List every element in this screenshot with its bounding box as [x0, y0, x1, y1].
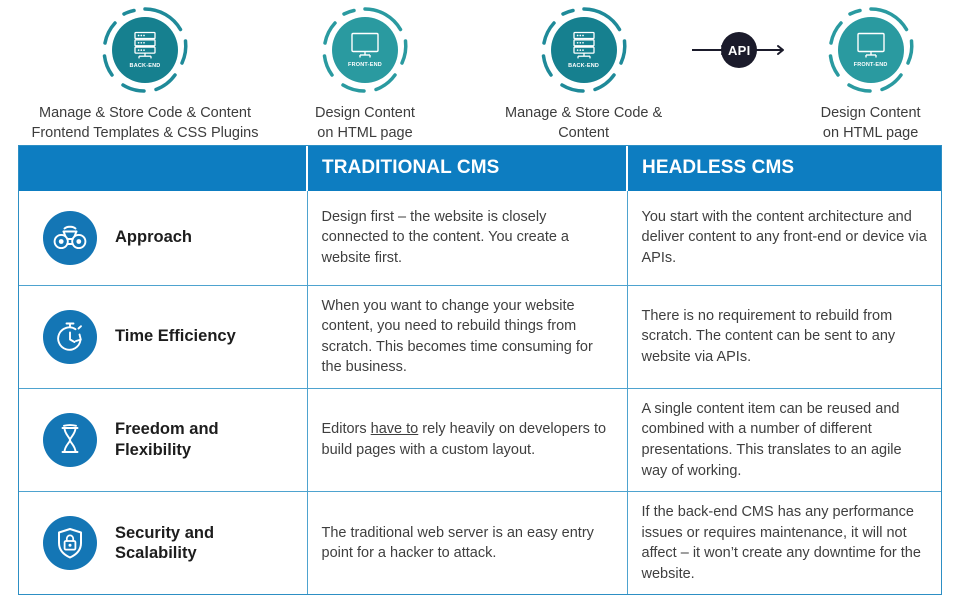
row-label-approach: Approach — [115, 227, 192, 248]
binoculars-icon — [43, 211, 97, 265]
cell-text: When you want to change your website con… — [322, 296, 613, 378]
cell-text: Design first – the website is closely co… — [322, 207, 613, 269]
table-header-traditional: TRADITIONAL CMS — [307, 146, 627, 191]
cell-headless-time-efficiency: There is no requirement to rebuild from … — [627, 285, 941, 388]
cell-text: If the back-end CMS has any performance … — [642, 502, 928, 584]
monitor-icon — [855, 31, 887, 61]
server-rack-icon — [569, 30, 599, 62]
table-row: Time Efficiency When you want to change … — [19, 285, 941, 388]
backend-badge-label: BACK-END — [568, 64, 599, 70]
backend-badge: BACK-END — [101, 6, 189, 94]
traditional-backend-node: BACK-END Manage & Store Code & Content F… — [20, 0, 270, 143]
traditional-frontend-node: FRONT-END Design Content on HTML page — [270, 0, 460, 143]
cell-text-underlined: have to — [371, 421, 419, 437]
cell-traditional-freedom-flexibility: Editors have to rely heavily on develope… — [307, 388, 627, 491]
cell-text: A single content item can be reused and … — [642, 399, 928, 481]
table-header-headless: HEADLESS CMS — [627, 146, 941, 191]
table-header-blank — [19, 146, 307, 191]
frontend-badge-core: FRONT-END — [838, 17, 904, 83]
row-label-security-scalability: Security and Scalability — [115, 523, 214, 564]
api-badge: API — [721, 32, 757, 68]
traditional-backend-caption: Manage & Store Code & Content Frontend T… — [31, 104, 258, 143]
frontend-badge-core: FRONT-END — [332, 17, 398, 83]
cell-text: You start with the content architecture … — [642, 207, 928, 269]
frontend-badge: FRONT-END — [827, 6, 915, 94]
traditional-frontend-caption: Design Content on HTML page — [315, 104, 415, 143]
cell-text: There is no requirement to rebuild from … — [642, 306, 928, 368]
table-body: Approach Design first – the website is c… — [19, 191, 941, 594]
frontend-badge-label: FRONT-END — [348, 63, 382, 69]
backend-badge-core: BACK-END — [551, 17, 617, 83]
table-row: Freedom and Flexibility Editors have to … — [19, 388, 941, 491]
row-label-freedom-flexibility: Freedom and Flexibility — [115, 419, 219, 460]
monitor-icon — [349, 31, 381, 61]
cell-traditional-security-scalability: The traditional web server is an easy en… — [307, 492, 627, 595]
row-label-cell-freedom-flexibility: Freedom and Flexibility — [19, 388, 307, 491]
cell-text: The traditional web server is an easy en… — [322, 523, 613, 564]
cell-text-pre: Editors — [322, 421, 371, 437]
cell-headless-approach: You start with the content architecture … — [627, 191, 941, 285]
row-label-time-efficiency: Time Efficiency — [115, 326, 236, 347]
table-row: Security and Scalability The traditional… — [19, 492, 941, 595]
hourglass-icon — [43, 413, 97, 467]
backend-badge: BACK-END — [540, 6, 628, 94]
diagram-section: BACK-END Manage & Store Code & Content F… — [0, 0, 960, 145]
cell-headless-security-scalability: If the back-end CMS has any performance … — [627, 492, 941, 595]
frontend-badge-label: FRONT-END — [854, 63, 888, 69]
cell-traditional-approach: Design first – the website is closely co… — [307, 191, 627, 285]
traditional-cms-diagram: BACK-END Manage & Store Code & Content F… — [20, 0, 480, 143]
frontend-badge: FRONT-END — [321, 6, 409, 94]
api-connector: API — [687, 6, 791, 94]
table-header: TRADITIONAL CMS HEADLESS CMS — [19, 146, 941, 191]
table-header-row: TRADITIONAL CMS HEADLESS CMS — [19, 146, 941, 191]
shield-lock-icon — [43, 516, 97, 570]
cell-traditional-time-efficiency: When you want to change your website con… — [307, 285, 627, 388]
cell-headless-freedom-flexibility: A single content item can be reused and … — [627, 388, 941, 491]
server-rack-icon — [130, 30, 160, 62]
stopwatch-icon — [43, 310, 97, 364]
backend-badge-core: BACK-END — [112, 17, 178, 83]
cell-text: Editors have to rely heavily on develope… — [322, 419, 613, 460]
row-label-cell-approach: Approach — [19, 191, 307, 285]
headless-frontend-node: FRONT-END Design Content on HTML page — [791, 0, 950, 143]
cms-comparison-table: TRADITIONAL CMS HEADLESS CMS — [18, 145, 942, 595]
backend-badge-label: BACK-END — [130, 64, 161, 70]
headless-frontend-caption: Design Content on HTML page — [821, 104, 921, 143]
table-row: Approach Design first – the website is c… — [19, 191, 941, 285]
row-label-cell-security-scalability: Security and Scalability — [19, 492, 307, 595]
row-label-cell-time-efficiency: Time Efficiency — [19, 285, 307, 388]
